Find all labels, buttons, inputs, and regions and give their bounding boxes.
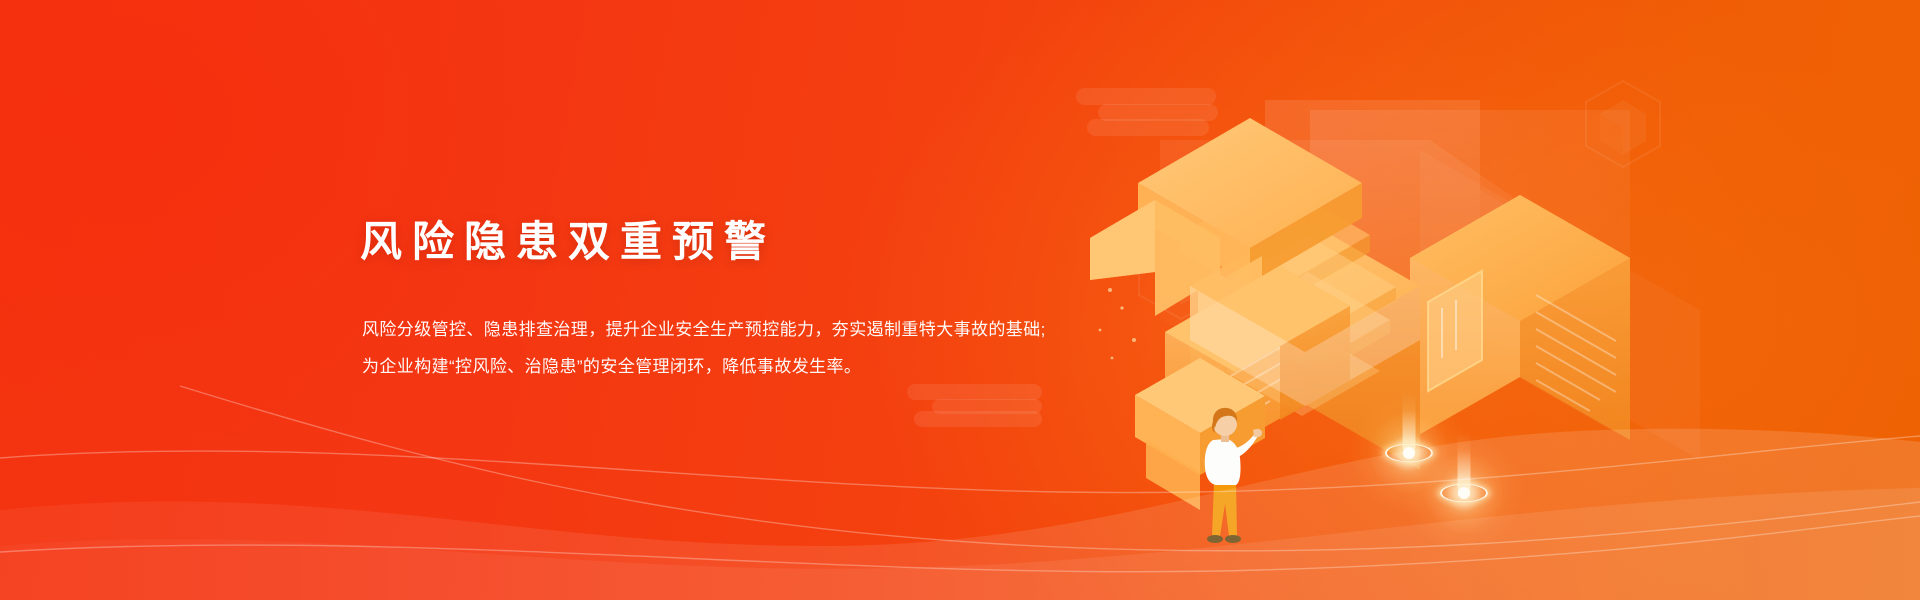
hero-copy-block: 风险隐患双重预警 风险分级管控、隐患排查治理，提升企业安全生产预控能力，夯实遏制…: [360, 218, 1200, 385]
hex-cube-right-icon: [1582, 78, 1664, 170]
hex-cube-small-icon: [1254, 186, 1324, 264]
person-illustration: [1196, 404, 1268, 556]
glow-point-1-icon: [1408, 452, 1409, 453]
bottom-wave-decoration: [0, 370, 1920, 600]
glow-point-2-icon: [1463, 492, 1464, 493]
cloud-decoration-secondary-icon: [897, 384, 1062, 426]
cloud-decoration-icon: [1068, 88, 1243, 136]
subtitle-line-1: 风险分级管控、隐患排查治理，提升企业安全生产预控能力，夯实遏制重特大事故的基础;: [362, 311, 1200, 348]
page-subtitle: 风险分级管控、隐患排查治理，提升企业安全生产预控能力，夯实遏制重特大事故的基础;…: [362, 311, 1200, 385]
page-title: 风险隐患双重预警: [360, 218, 1200, 265]
subtitle-line-2: 为企业构建“控风险、治隐患”的安全管理闭环，降低事故发生率。: [362, 348, 1200, 385]
hero-banner: 风险隐患双重预警 风险分级管控、隐患排查治理，提升企业安全生产预控能力，夯实遏制…: [0, 0, 1920, 600]
